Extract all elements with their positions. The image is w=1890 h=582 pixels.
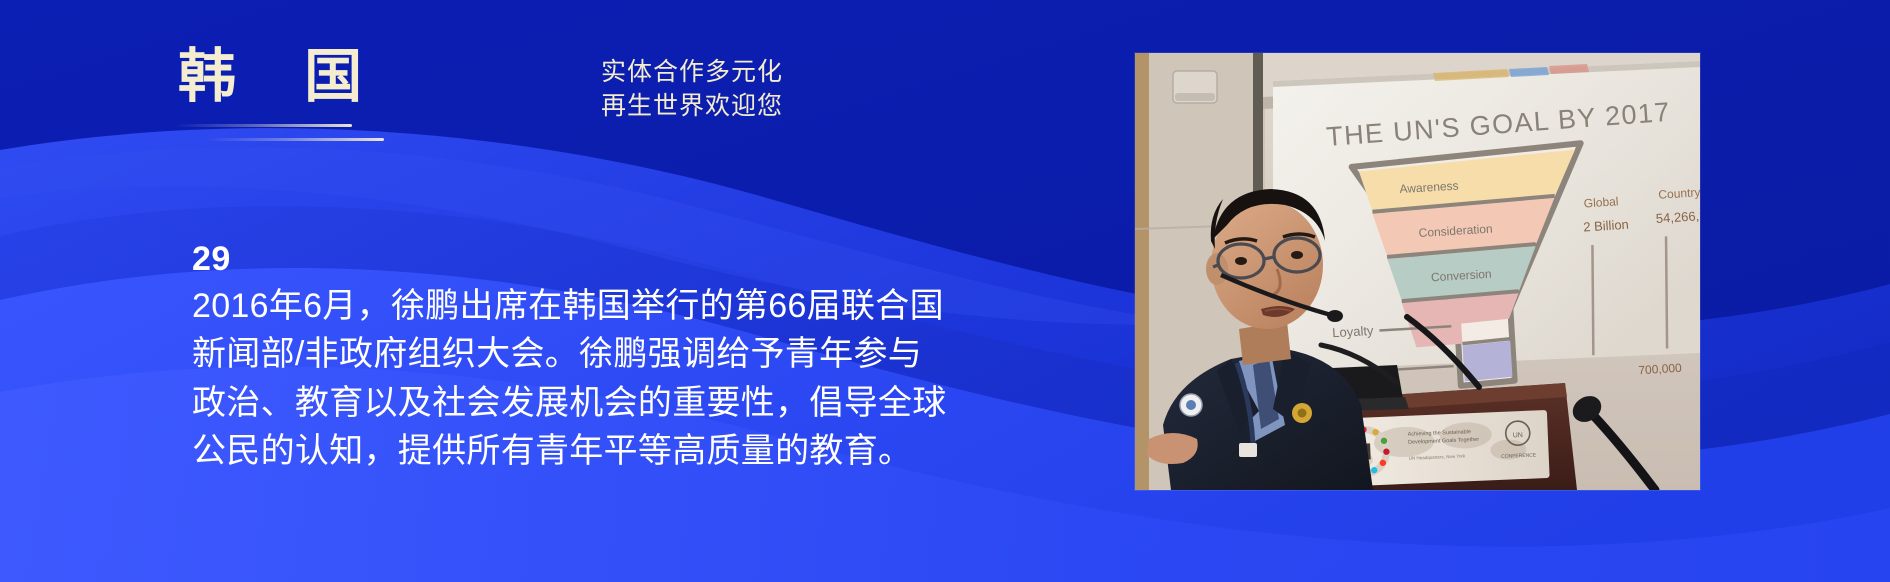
slide-header: 韩 国 实体合作多元化 再生世界欢迎您 xyxy=(0,0,1100,180)
title-block: 韩 国 xyxy=(178,48,378,106)
body-line-4: 公民的认知，提供所有青年平等高质量的教育。 xyxy=(192,427,1072,475)
svg-text:Country: Country xyxy=(1658,185,1700,202)
slide-canvas: 韩 国 实体合作多元化 再生世界欢迎您 29 2016年6月，徐鹏出席在韩国举行… xyxy=(0,0,1890,582)
svg-text:700,000: 700,000 xyxy=(1638,361,1682,378)
svg-text:UN: UN xyxy=(1513,432,1523,439)
conference-photo: THE UN'S GOAL BY 2017 Awaren xyxy=(1135,53,1700,490)
svg-text:Loyalty: Loyalty xyxy=(1332,323,1375,340)
subtitle-line-2: 再生世界欢迎您 xyxy=(592,90,792,124)
body-paragraph: 2016年6月，徐鹏出席在韩国举行的第66届联合国 新闻部/非政府组织大会。徐鹏… xyxy=(192,282,1072,475)
decorative-rule-top xyxy=(176,124,352,127)
decorative-rule-bottom xyxy=(206,138,384,141)
subtitle-block: 实体合作多元化 再生世界欢迎您 xyxy=(592,56,792,124)
body-block: 29 2016年6月，徐鹏出席在韩国举行的第66届联合国 新闻部/非政府组织大会… xyxy=(192,242,1072,475)
svg-text:Global: Global xyxy=(1583,194,1618,210)
page-title: 韩 国 xyxy=(178,48,378,106)
body-line-2: 新闻部/非政府组织大会。徐鹏强调给予青年参与 xyxy=(192,330,1072,378)
title-underline-decoration xyxy=(176,124,416,150)
body-line-1: 2016年6月，徐鹏出席在韩国举行的第66届联合国 xyxy=(192,282,1072,330)
body-line-3: 政治、教育以及社会发展机会的重要性，倡导全球 xyxy=(192,379,1072,427)
photo-illustration: THE UN'S GOAL BY 2017 Awaren xyxy=(1135,53,1700,490)
svg-text:54,266,355: 54,266,355 xyxy=(1655,207,1700,226)
item-number: 29 xyxy=(192,242,1072,276)
subtitle-line-1: 实体合作多元化 xyxy=(592,56,792,90)
svg-text:2 Billion: 2 Billion xyxy=(1583,217,1629,235)
